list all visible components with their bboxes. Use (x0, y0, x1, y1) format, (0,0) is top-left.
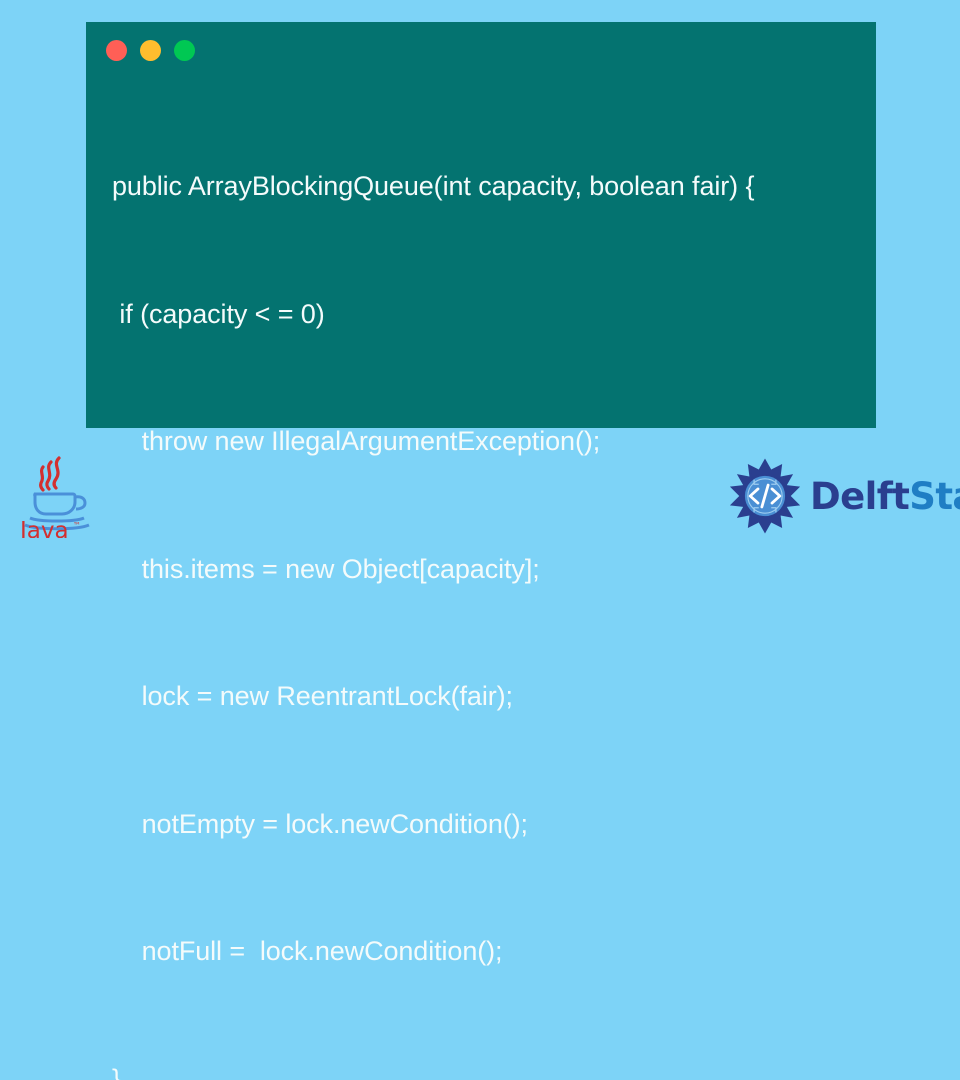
java-coffee-cup-icon: Java ™ (18, 452, 96, 538)
window-controls (106, 40, 195, 61)
delftstack-logo: DelftStack (726, 456, 960, 536)
delftstack-word-secondary: Stack (909, 475, 960, 518)
code-line: notEmpty = lock.newCondition(); (86, 803, 876, 846)
java-wordmark: Java (18, 518, 69, 538)
code-line: notFull = lock.newCondition(); (86, 930, 876, 973)
java-logo: Java ™ (18, 452, 96, 538)
code-line: lock = new ReentrantLock(fair); (86, 675, 876, 718)
java-trademark-icon: ™ (73, 521, 81, 530)
code-line: this.items = new Object[capacity]; (86, 548, 876, 591)
maximize-button[interactable] (174, 40, 195, 61)
delftstack-word-primary: Delft (810, 475, 909, 518)
delftstack-emblem-icon (726, 457, 804, 535)
code-line: } (86, 1058, 876, 1080)
delftstack-wordmark: DelftStack (810, 478, 960, 515)
code-block: public ArrayBlockingQueue(int capacity, … (86, 80, 876, 1080)
code-line: if (capacity < = 0) (86, 293, 876, 336)
minimize-button[interactable] (140, 40, 161, 61)
code-window: public ArrayBlockingQueue(int capacity, … (86, 22, 876, 428)
code-line: public ArrayBlockingQueue(int capacity, … (86, 165, 876, 208)
close-button[interactable] (106, 40, 127, 61)
